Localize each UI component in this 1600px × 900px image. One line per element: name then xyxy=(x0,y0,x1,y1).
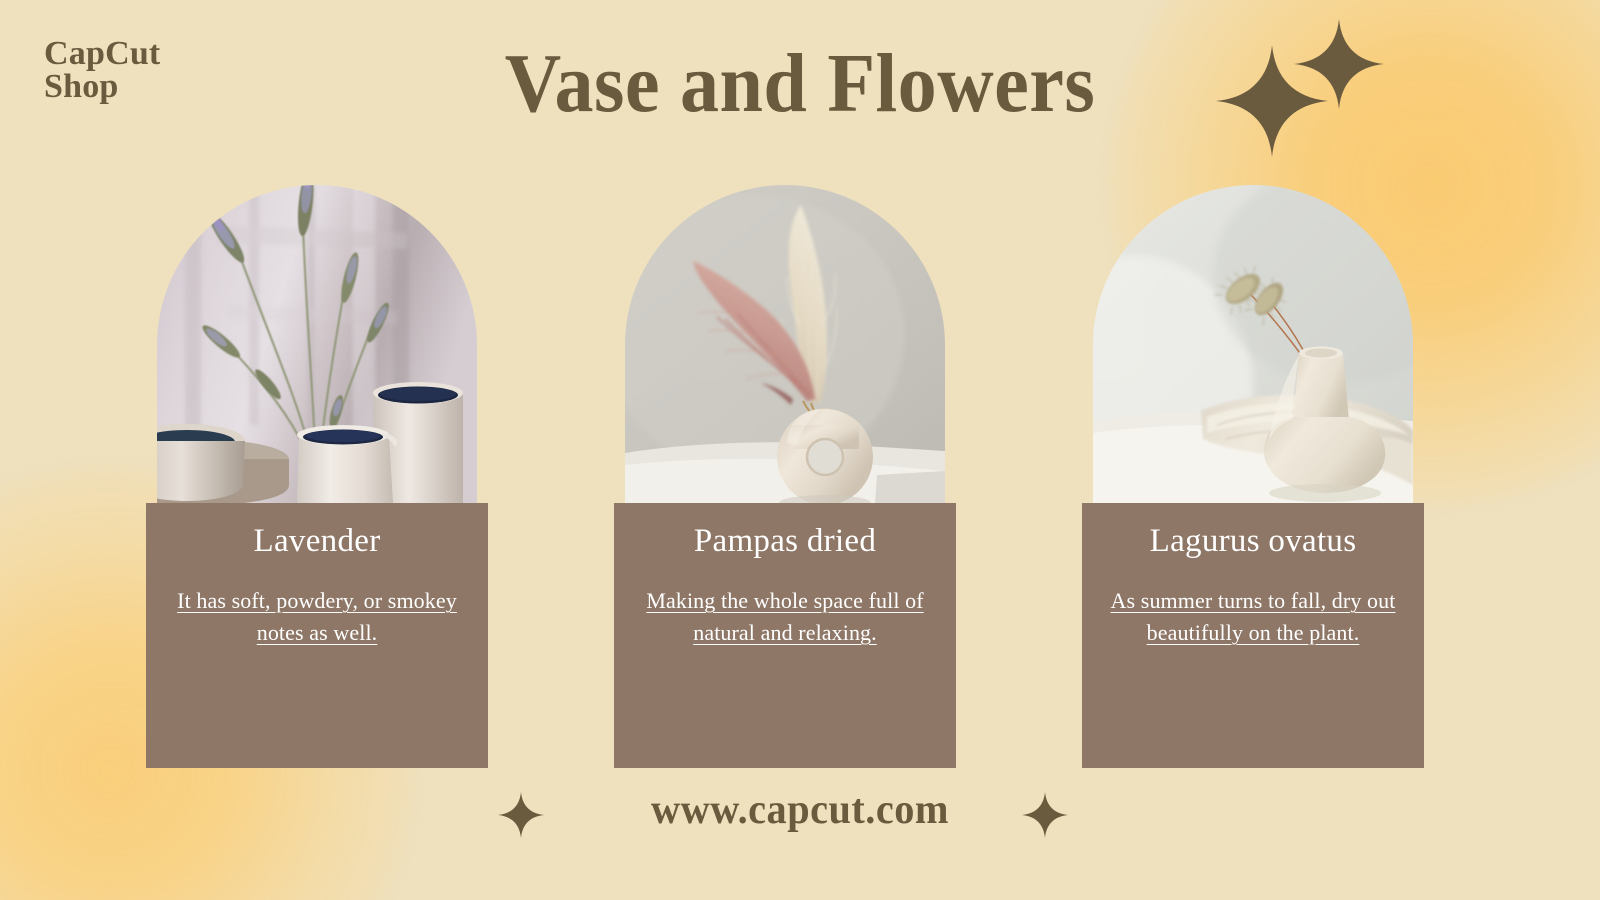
product-image-arch xyxy=(1093,185,1413,503)
product-description: Making the whole space full of natural a… xyxy=(628,585,942,649)
product-caption-panel: Lavender It has soft, powdery, or smokey… xyxy=(146,503,488,768)
product-name: Lavender xyxy=(160,523,474,561)
lavender-photo xyxy=(157,185,477,503)
pampas-photo xyxy=(625,185,945,503)
product-card[interactable]: Lagurus ovatus As summer turns to fall, … xyxy=(1082,185,1424,768)
poster-canvas: CapCut Shop Vase and Flowers xyxy=(0,0,1600,900)
footer-website[interactable]: www.capcut.com xyxy=(32,786,1568,834)
product-description: It has soft, powdery, or smokey notes as… xyxy=(160,585,474,649)
product-name: Pampas dried xyxy=(628,523,942,561)
product-card[interactable]: Pampas dried Making the whole space full… xyxy=(614,185,956,768)
product-description: As summer turns to fall, dry out beautif… xyxy=(1096,585,1410,649)
product-caption-panel: Lagurus ovatus As summer turns to fall, … xyxy=(1082,503,1424,768)
product-image-arch xyxy=(625,185,945,503)
product-name: Lagurus ovatus xyxy=(1096,523,1410,561)
sparkle-four-point-icon xyxy=(1022,786,1068,844)
product-image-arch xyxy=(157,185,477,503)
product-caption-panel: Pampas dried Making the whole space full… xyxy=(614,503,956,768)
lagurus-photo xyxy=(1093,185,1413,503)
product-card[interactable]: Lavender It has soft, powdery, or smokey… xyxy=(146,185,488,768)
product-card-list: Lavender It has soft, powdery, or smokey… xyxy=(0,0,1600,900)
